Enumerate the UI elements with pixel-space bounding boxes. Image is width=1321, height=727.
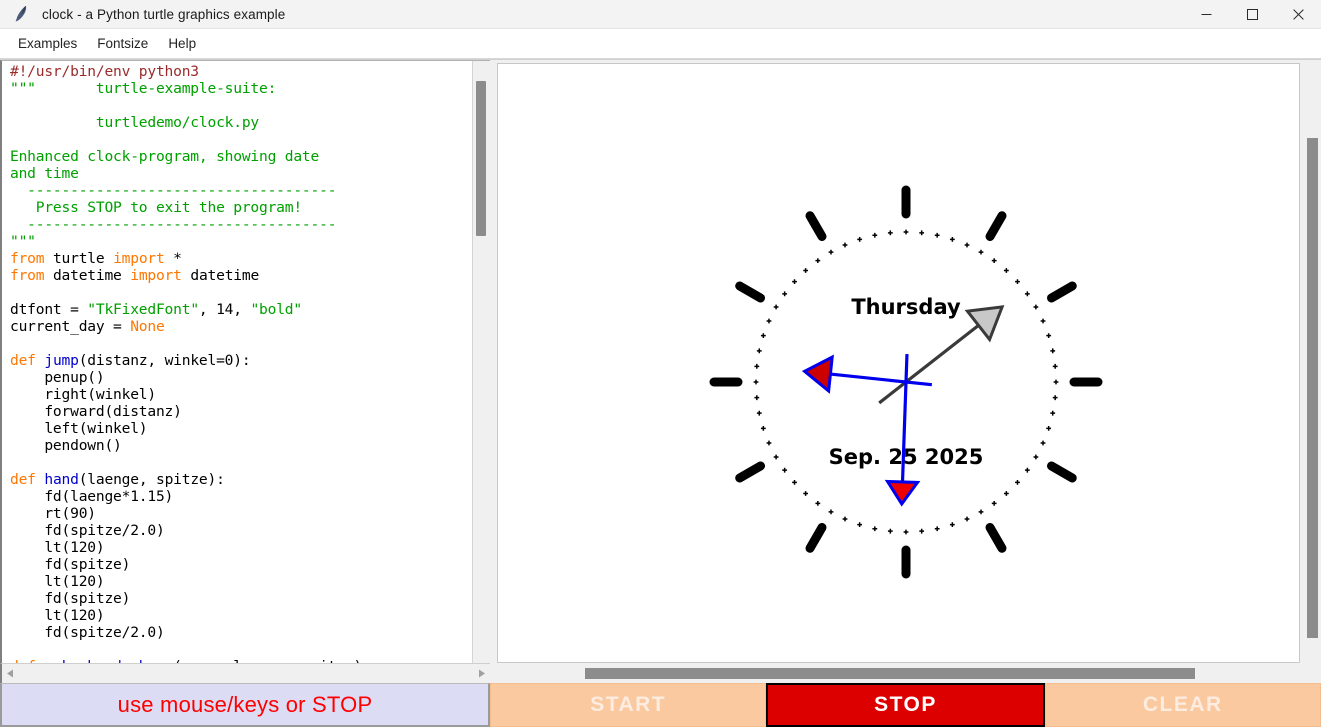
weekday-label: Thursday xyxy=(851,295,961,319)
minute-tick xyxy=(1004,491,1009,496)
minute-tick xyxy=(843,243,848,248)
code-line: penup() xyxy=(10,369,104,386)
code-line: and time xyxy=(10,165,79,182)
stop-button[interactable]: STOP xyxy=(766,683,1044,727)
maximize-icon xyxy=(1247,9,1258,20)
minute-tick xyxy=(888,529,893,534)
canvas-pane: ThursdaySep. 25 2025 START STOP CLEAR xyxy=(490,60,1321,727)
minute-tick xyxy=(888,230,893,235)
minute-tick xyxy=(979,510,984,515)
scroll-right-icon[interactable] xyxy=(473,665,490,682)
hour-mark xyxy=(810,527,822,548)
minute-tick xyxy=(872,233,877,238)
minute-tick xyxy=(950,522,955,527)
code-line: lt(120) xyxy=(10,539,104,556)
canvas-vertical-scrollbar-thumb[interactable] xyxy=(1307,138,1318,638)
minute-tick xyxy=(754,395,759,400)
minute-tick xyxy=(1050,348,1055,353)
maximize-button[interactable] xyxy=(1229,0,1275,28)
minute-tick xyxy=(919,230,924,235)
minute-tick xyxy=(829,510,834,515)
code-line: fd(spitze) xyxy=(10,556,130,573)
hour-mark xyxy=(990,216,1002,237)
minimize-icon xyxy=(1201,9,1212,20)
code-line: Enhanced clock-program, showing date xyxy=(10,148,319,165)
minute-tick xyxy=(919,529,924,534)
hour-hand-shaft xyxy=(879,325,978,403)
minute-tick xyxy=(757,348,762,353)
minute-hand-head xyxy=(805,357,833,391)
code-line: lt(120) xyxy=(10,573,104,590)
close-icon xyxy=(1293,9,1304,20)
menu-help[interactable]: Help xyxy=(158,33,206,54)
minute-tick xyxy=(767,319,772,324)
minute-tick xyxy=(1041,441,1046,446)
code-pane: #!/usr/bin/env python3 """ turtle-exampl… xyxy=(0,60,490,727)
hour-mark xyxy=(1051,466,1072,478)
window-controls xyxy=(1183,0,1321,28)
hour-mark xyxy=(810,216,822,237)
minute-tick xyxy=(1034,455,1039,460)
minute-tick xyxy=(1046,426,1051,431)
code-line: left(winkel) xyxy=(10,420,147,437)
code-line: #!/usr/bin/env python3 xyxy=(10,63,199,80)
minute-tick xyxy=(857,522,862,527)
code-line: rt(90) xyxy=(10,505,96,522)
code-line: forward(distanz) xyxy=(10,403,182,420)
status-message: use mouse/keys or STOP xyxy=(118,692,373,718)
code-line: right(winkel) xyxy=(10,386,156,403)
title-bar: clock - a Python turtle graphics example xyxy=(0,0,1321,29)
start-button[interactable]: START xyxy=(490,683,766,727)
second-hand-head xyxy=(888,481,918,504)
minute-tick xyxy=(1004,268,1009,273)
code-line: fd(spitze) xyxy=(10,590,130,607)
minute-tick xyxy=(1041,319,1046,324)
minute-tick xyxy=(1025,291,1030,296)
minute-tick xyxy=(757,411,762,416)
turtle-canvas[interactable]: ThursdaySep. 25 2025 xyxy=(497,63,1300,663)
hour-mark xyxy=(990,527,1002,548)
minute-tick xyxy=(872,526,877,531)
minute-tick xyxy=(767,441,772,446)
canvas-horizontal-scrollbar-thumb[interactable] xyxy=(585,668,1195,679)
hour-mark xyxy=(1051,286,1072,298)
code-line: ------------------------------------ xyxy=(10,216,336,233)
code-line: turtledemo/clock.py xyxy=(10,114,259,131)
minute-tick xyxy=(965,517,970,522)
status-bar: use mouse/keys or STOP xyxy=(0,683,490,727)
minute-tick xyxy=(803,491,808,496)
minute-tick xyxy=(829,250,834,255)
minute-tick xyxy=(1015,480,1020,485)
canvas-horizontal-scrollbar[interactable] xyxy=(497,663,1321,683)
clock-drawing: ThursdaySep. 25 2025 xyxy=(498,64,1300,663)
minute-tick xyxy=(843,517,848,522)
code-line: dtfont = "TkFixedFont", 14, "bold" xyxy=(10,301,302,318)
minute-tick xyxy=(935,526,940,531)
application-window: clock - a Python turtle graphics example xyxy=(0,0,1321,727)
minute-tick xyxy=(1053,364,1058,369)
minute-tick xyxy=(992,501,997,506)
minute-tick xyxy=(1050,411,1055,416)
code-vertical-scrollbar-thumb[interactable] xyxy=(476,81,486,236)
minute-tick xyxy=(792,279,797,284)
hour-mark xyxy=(740,286,761,298)
canvas-row: ThursdaySep. 25 2025 xyxy=(490,60,1321,663)
hour-mark xyxy=(740,466,761,478)
minute-tick xyxy=(782,291,787,296)
code-line: def jump(distanz, winkel=0): xyxy=(10,352,250,369)
minute-tick xyxy=(1046,333,1051,338)
minute-tick xyxy=(965,243,970,248)
code-line: def hand(laenge, spitze): xyxy=(10,471,225,488)
minute-tick xyxy=(815,501,820,506)
code-line: fd(spitze/2.0) xyxy=(10,624,165,641)
canvas-vertical-scrollbar[interactable] xyxy=(1304,60,1321,663)
code-line: """ turtle-example-suite: xyxy=(10,80,276,97)
minute-tick xyxy=(782,468,787,473)
code-line: Press STOP to exit the program! xyxy=(10,199,302,216)
minute-tick xyxy=(935,233,940,238)
minute-tick xyxy=(992,258,997,263)
minute-tick xyxy=(761,426,766,431)
code-line: """ xyxy=(10,233,36,250)
minute-tick xyxy=(950,237,955,242)
minute-tick xyxy=(1025,468,1030,473)
code-editor-row: #!/usr/bin/env python3 """ turtle-exampl… xyxy=(0,60,490,663)
source-code-text: #!/usr/bin/env python3 """ turtle-exampl… xyxy=(10,63,472,663)
close-button[interactable] xyxy=(1275,0,1321,28)
minute-tick xyxy=(1053,395,1058,400)
code-line: from datetime import datetime xyxy=(10,267,259,284)
code-horizontal-scrollbar[interactable] xyxy=(0,663,490,683)
source-code-view[interactable]: #!/usr/bin/env python3 """ turtle-exampl… xyxy=(2,61,472,663)
code-line: ------------------------------------ xyxy=(10,182,336,199)
minute-tick xyxy=(815,258,820,263)
minute-tick xyxy=(792,480,797,485)
python-feather-icon xyxy=(0,5,36,23)
window-title: clock - a Python turtle graphics example xyxy=(36,7,285,22)
code-line: fd(spitze/2.0) xyxy=(10,522,165,539)
hour-hand-head xyxy=(967,307,1002,340)
minute-tick xyxy=(1034,305,1039,310)
minute-tick xyxy=(803,268,808,273)
minute-tick xyxy=(904,230,909,235)
main-split: #!/usr/bin/env python3 """ turtle-exampl… xyxy=(0,59,1321,727)
code-vertical-scrollbar[interactable] xyxy=(472,61,490,663)
date-label: Sep. 25 2025 xyxy=(829,445,984,469)
scroll-left-icon[interactable] xyxy=(2,665,19,682)
menu-examples[interactable]: Examples xyxy=(8,33,87,54)
minute-tick xyxy=(754,380,759,385)
code-line: pendown() xyxy=(10,437,122,454)
code-line: fd(laenge*1.15) xyxy=(10,488,173,505)
minimize-button[interactable] xyxy=(1183,0,1229,28)
minute-tick xyxy=(979,250,984,255)
code-line: lt(120) xyxy=(10,607,104,624)
code-line: current_day = None xyxy=(10,318,165,335)
minute-tick xyxy=(774,305,779,310)
minute-tick xyxy=(761,333,766,338)
menu-fontsize[interactable]: Fontsize xyxy=(87,33,158,54)
minute-tick xyxy=(904,530,909,535)
control-button-bar: START STOP CLEAR xyxy=(490,683,1321,727)
menu-bar: Examples Fontsize Help xyxy=(0,29,1321,59)
minute-tick xyxy=(1054,380,1059,385)
minute-tick xyxy=(857,237,862,242)
minute-tick xyxy=(774,455,779,460)
clear-button[interactable]: CLEAR xyxy=(1045,683,1321,727)
minute-tick xyxy=(754,364,759,369)
minute-tick xyxy=(1015,279,1020,284)
code-line: from turtle import * xyxy=(10,250,182,267)
